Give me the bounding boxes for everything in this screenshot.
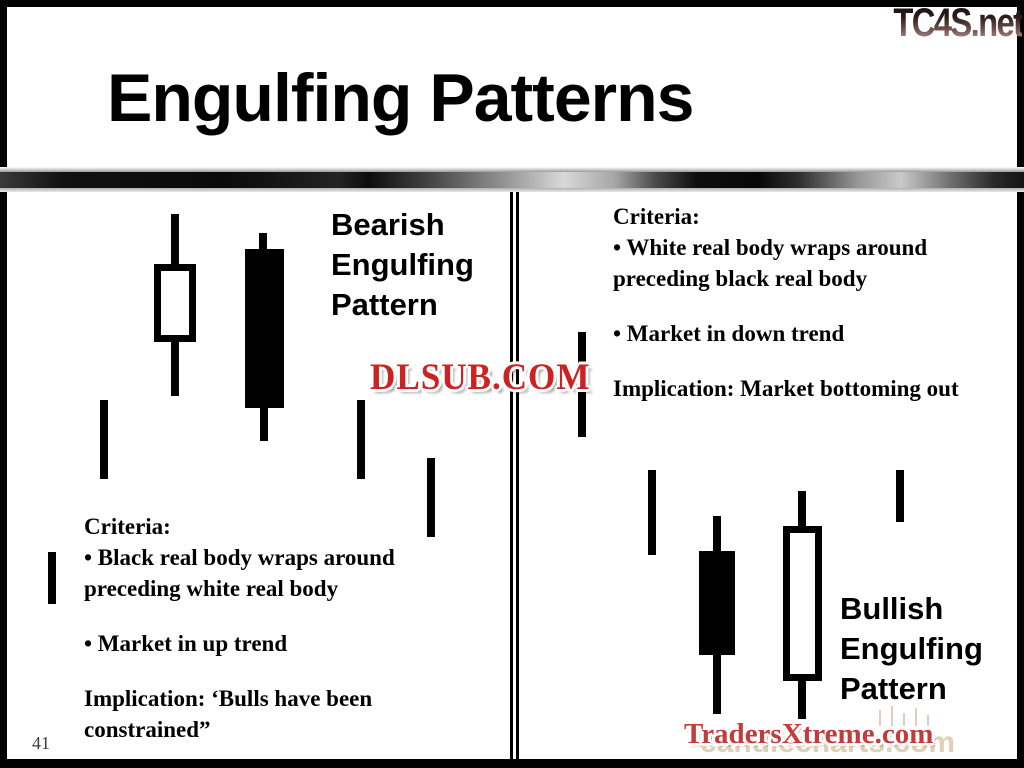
- slide-canvas: Engulfing Patterns TC4S.net Bearish Engu…: [0, 0, 1024, 768]
- frame-border-bottom: [0, 759, 1024, 768]
- divider-rule-right: [516, 192, 519, 760]
- watermark-tc4s: TC4S.net: [893, 2, 1022, 44]
- vertical-divider: [510, 192, 519, 760]
- criteria-bullet-bearish-1: • Black real body wraps around: [84, 542, 504, 573]
- frame-border-top: [0, 0, 1024, 7]
- criteria-bullet-bearish-1-cont: preceding white real body: [84, 573, 504, 604]
- label-bearish-line-3: Pattern: [331, 285, 474, 325]
- candle-body-left-black: [245, 249, 284, 408]
- candle-wick-right-black-upper: [713, 516, 721, 556]
- label-bearish-line-1: Bearish: [331, 205, 474, 245]
- criteria-spacer-bullish-1: [613, 294, 1024, 318]
- candle-body-left-white: [154, 264, 196, 342]
- divider-rule-left: [510, 192, 513, 760]
- watermark-tradersxtreme: TradersXtreme.com: [684, 718, 933, 750]
- candle-body-right-white: [783, 526, 822, 681]
- candle-wick-right-black-lower: [713, 651, 721, 714]
- criteria-block-bullish: Criteria: • White real body wraps around…: [613, 201, 1024, 404]
- criteria-spacer-bullish-2: [613, 349, 1024, 373]
- candle-wick-right-trend-bar-2: [648, 470, 656, 555]
- candle-wick-left-white-upper: [171, 214, 179, 270]
- page-number: 41: [32, 733, 50, 754]
- label-bearish-engulfing-pattern: Bearish Engulfing Pattern: [331, 205, 474, 325]
- candle-wick-left-trend-bar-1: [100, 400, 108, 479]
- label-bullish-line-1: Bullish: [840, 589, 983, 629]
- criteria-heading-bullish: Criteria:: [613, 201, 1024, 232]
- criteria-bullet-bullish-2: • Market in down trend: [613, 318, 1024, 349]
- candle-body-right-black: [699, 551, 735, 655]
- implication-bearish-line-2: constrained”: [84, 714, 504, 745]
- label-bullish-line-3: Pattern: [840, 669, 983, 709]
- criteria-heading-bearish: Criteria:: [84, 511, 504, 542]
- criteria-bullet-bullish-1-cont: preceding black real body: [613, 263, 1024, 294]
- candle-wick-left-trend-bar-0: [48, 552, 56, 604]
- metallic-separator-bar: [0, 172, 1024, 188]
- criteria-block-bearish: Criteria: • Black real body wraps around…: [84, 511, 504, 745]
- criteria-spacer-bearish-1: [84, 604, 504, 628]
- candle-wick-left-black-lower: [260, 404, 268, 441]
- label-bullish-line-2: Engulfing: [840, 629, 983, 669]
- criteria-bullet-bearish-2: • Market in up trend: [84, 628, 504, 659]
- title-band: Engulfing Patterns: [7, 7, 1017, 165]
- criteria-spacer-bearish-2: [84, 659, 504, 683]
- candle-wick-right-white-upper: [798, 491, 806, 531]
- label-bearish-line-2: Engulfing: [331, 245, 474, 285]
- watermark-dlsub: DLSUB.COM: [370, 358, 590, 398]
- frame-border-left: [0, 0, 7, 768]
- label-bullish-engulfing-pattern: Bullish Engulfing Pattern: [840, 589, 983, 709]
- candle-wick-right-white-lower: [798, 677, 806, 719]
- candle-wick-right-trend-bar-3: [896, 470, 904, 522]
- implication-bullish-line-1: Implication: Market bottoming out: [613, 373, 1024, 404]
- candle-wick-left-white-lower: [171, 338, 179, 396]
- implication-bearish-line-1: Implication: ‘Bulls have been: [84, 683, 504, 714]
- candle-wick-left-trend-bar-2: [357, 400, 365, 479]
- page-title: Engulfing Patterns: [107, 59, 967, 137]
- criteria-bullet-bullish-1: • White real body wraps around: [613, 232, 1024, 263]
